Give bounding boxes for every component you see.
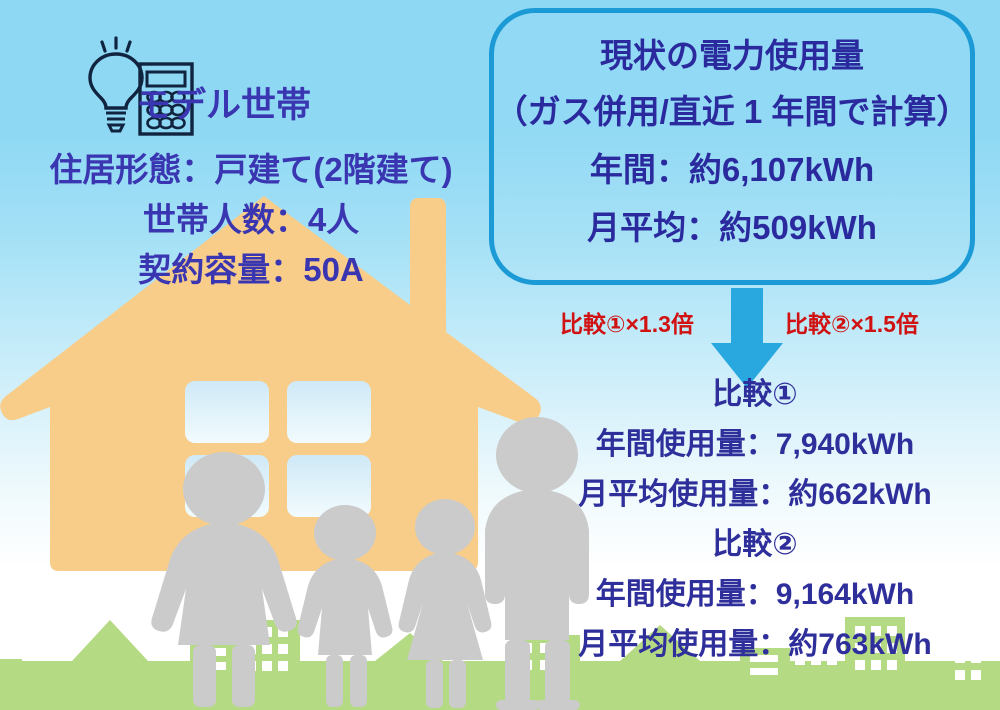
multiplier-label-comparison2: 比較②×1.5倍 bbox=[785, 305, 919, 339]
down-arrow-icon bbox=[707, 288, 787, 388]
model-household-block: モデル世帯 住居形態：戸建て(2階建て) 世帯人数：4人 契約容量：50A bbox=[16, 88, 486, 286]
comparison1-heading: 比較① bbox=[520, 380, 990, 410]
current-usage-annual: 年間：約6,107kWh bbox=[494, 153, 970, 186]
house-window bbox=[185, 381, 269, 443]
house-window bbox=[287, 381, 371, 443]
comparison1-annual: 年間使用量：7,940kWh bbox=[520, 430, 990, 460]
comparison2-heading: 比較② bbox=[520, 530, 990, 560]
household-member-count: 世帯人数：4人 bbox=[16, 203, 486, 236]
model-household-title: モデル世帯 bbox=[16, 88, 486, 136]
current-usage-title: 現状の電力使用量 bbox=[494, 39, 970, 72]
household-dwelling-type: 住居形態：戸建て(2階建て) bbox=[16, 153, 486, 186]
household-contract-capacity: 契約容量：50A bbox=[16, 253, 486, 286]
infographic-canvas: モデル世帯 住居形態：戸建て(2階建て) 世帯人数：4人 契約容量：50A 現状… bbox=[0, 0, 1000, 710]
current-usage-box: 現状の電力使用量 （ガス併用/直近 1 年間で計算） 年間：約6,107kWh … bbox=[489, 8, 975, 285]
house-window bbox=[287, 455, 371, 517]
current-usage-monthly: 月平均：約509kWh bbox=[494, 211, 970, 244]
comparison2-monthly: 月平均使用量：約763kWh bbox=[520, 630, 990, 660]
comparison-results-block: 比較① 年間使用量：7,940kWh 月平均使用量：約662kWh 比較② 年間… bbox=[520, 380, 990, 660]
comparison1-monthly: 月平均使用量：約662kWh bbox=[520, 480, 990, 510]
current-usage-subtitle: （ガス併用/直近 1 年間で計算） bbox=[494, 95, 970, 128]
comparison2-annual: 年間使用量：9,164kWh bbox=[520, 580, 990, 610]
multiplier-label-comparison1: 比較①×1.3倍 bbox=[560, 305, 694, 339]
